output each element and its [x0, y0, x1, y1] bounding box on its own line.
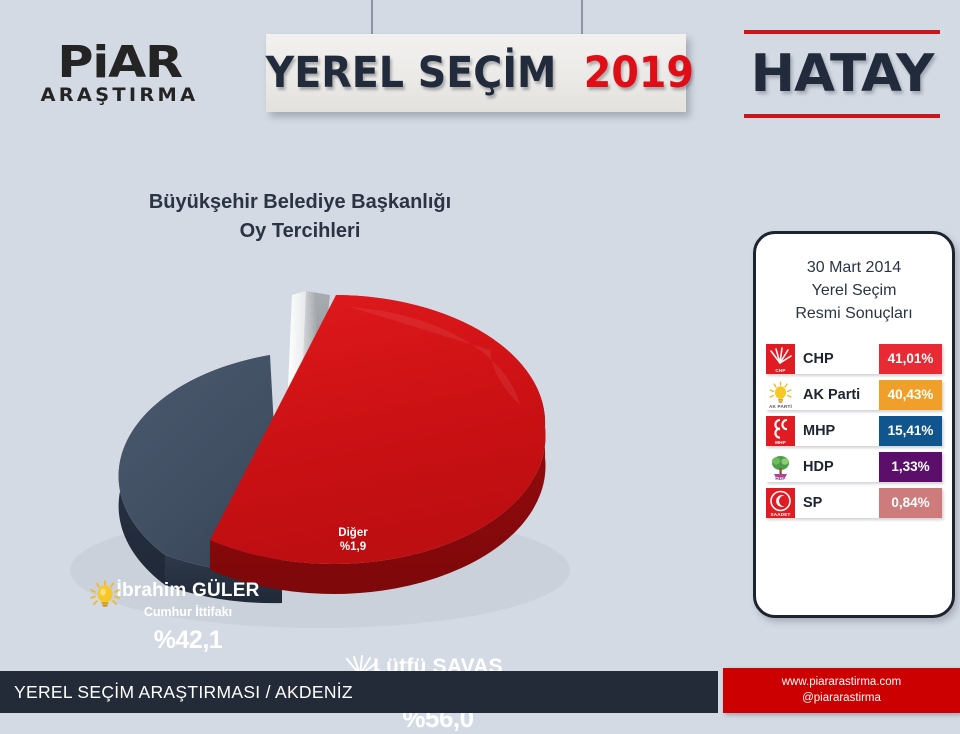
city-rule-top — [744, 30, 940, 34]
banner-title-year: 2019 — [584, 52, 694, 95]
city-name: HATAY — [742, 38, 942, 110]
table-row: AK PARTİ AK Parti 40,43% — [766, 380, 942, 410]
party-logo-abbr: MHP — [766, 440, 795, 445]
banner-title-main: YEREL SEÇİM — [266, 52, 557, 95]
party-percent: 1,33% — [879, 452, 942, 482]
akp-lightbulb-icon: AK PARTİ — [766, 380, 795, 410]
party-percent: 41,01% — [879, 344, 942, 374]
hdp-tree-icon: HDP — [766, 452, 795, 482]
footer-title: YEREL SEÇİM ARAŞTIRMASI / AKDENİZ — [14, 682, 353, 703]
party-name: HDP — [795, 452, 879, 482]
party-percent: 40,43% — [879, 380, 942, 410]
results-heading-line1: 30 Mart 2014 — [756, 256, 952, 279]
table-row: MHP MHP 15,41% — [766, 416, 942, 446]
footer-social-handle[interactable]: @piararastirma — [802, 691, 881, 707]
footer-website[interactable]: www.piararastirma.com — [782, 675, 902, 691]
results-heading-line3: Resmi Sonuçları — [756, 302, 952, 325]
party-results-list: CHP CHP 41,01% — [766, 344, 942, 518]
chart-title: Büyükşehir Belediye Başkanlığı Oy Tercih… — [60, 188, 540, 246]
piar-logo-wordmark: PiAR — [57, 42, 182, 84]
footer-contact-badge: www.piararastirma.com @piararastirma — [723, 668, 960, 713]
banner-hanging-string-right — [581, 0, 583, 34]
official-results-panel: 30 Mart 2014 Yerel Seçim Resmi Sonuçları… — [753, 231, 955, 618]
party-name: CHP — [795, 344, 879, 374]
sp-crescent-icon: SAADET — [766, 488, 795, 518]
page-header: PiAR ARAŞTIRMA YEREL SEÇİM 2019 HATAY — [0, 0, 960, 150]
city-title-block: HATAY — [744, 30, 940, 118]
party-logo-abbr: CHP — [766, 368, 795, 373]
mhp-crescent-icon: MHP — [766, 416, 795, 446]
party-name: SP — [795, 488, 879, 518]
party-percent: 15,41% — [879, 416, 942, 446]
piar-logo-subtitle: ARAŞTIRMA — [41, 85, 199, 106]
pie-chart-svg — [20, 255, 600, 635]
party-logo-abbr: AK PARTİ — [766, 404, 795, 409]
chart-title-line1: Büyükşehir Belediye Başkanlığı — [60, 188, 540, 217]
city-rule-bottom — [744, 114, 940, 118]
table-row: CHP CHP 41,01% — [766, 344, 942, 374]
table-row: SAADET SP 0,84% — [766, 488, 942, 518]
piar-logo: PiAR ARAŞTIRMA — [22, 38, 217, 110]
results-panel-heading: 30 Mart 2014 Yerel Seçim Resmi Sonuçları — [756, 256, 952, 326]
chp-logo-icon: CHP — [766, 344, 795, 374]
party-logo-abbr: HDP — [766, 476, 795, 481]
table-row: HDP HDP 1,33% — [766, 452, 942, 482]
chart-title-line2: Oy Tercihleri — [60, 217, 540, 246]
party-name: AK Parti — [795, 380, 879, 410]
party-percent: 0,84% — [879, 488, 942, 518]
results-heading-line2: Yerel Seçim — [756, 279, 952, 302]
banner-hanging-string-left — [371, 0, 373, 34]
party-name: MHP — [795, 416, 879, 446]
footer-bar: YEREL SEÇİM ARAŞTIRMASI / AKDENİZ — [0, 671, 718, 713]
title-banner: YEREL SEÇİM 2019 — [266, 34, 686, 112]
party-logo-abbr: SAADET — [766, 512, 795, 517]
pie-chart: İbrahim GÜLER Cumhur İttifakı %42,1 CHP … — [20, 255, 600, 635]
